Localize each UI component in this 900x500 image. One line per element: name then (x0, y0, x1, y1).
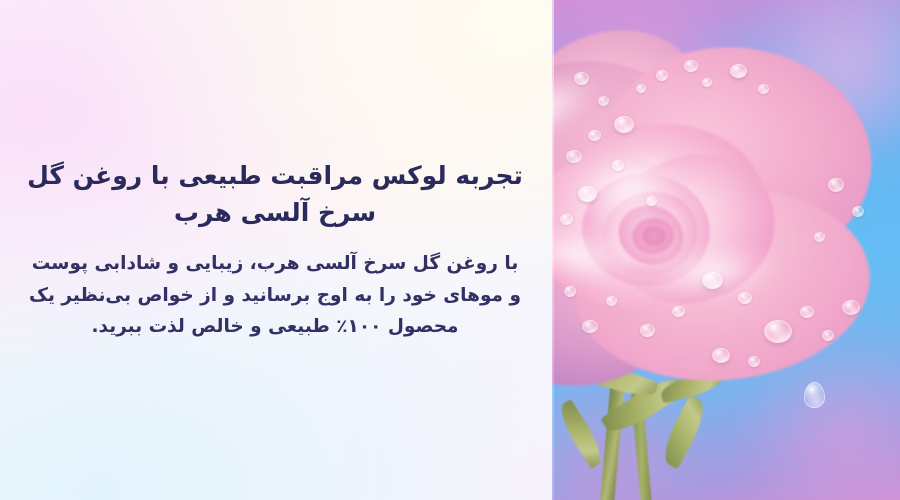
water-droplet (656, 70, 668, 81)
water-droplet (566, 150, 582, 163)
water-droplet (822, 330, 834, 341)
content-inner: تجربه لوکس مراقبت طبیعی با روغن گل سرخ آ… (20, 0, 530, 500)
water-droplet (606, 296, 617, 306)
body-copy: با روغن گل سرخ آلسی هرب، زیبایی و شادابی… (25, 248, 525, 343)
promo-banner: تجربه لوکس مراقبت طبیعی با روغن گل سرخ آ… (0, 0, 900, 500)
water-droplet (614, 116, 634, 133)
water-droplet (574, 72, 589, 85)
water-droplet (588, 130, 601, 141)
water-droplet (842, 300, 860, 315)
water-droplet (640, 324, 655, 337)
water-droplet (738, 292, 752, 304)
page-title: تجربه لوکس مراقبت طبیعی با روغن گل سرخ آ… (20, 157, 530, 232)
water-droplet (702, 272, 723, 289)
water-droplet (712, 348, 730, 363)
water-droplet (758, 84, 769, 94)
water-droplet (764, 320, 792, 343)
water-droplet (852, 206, 864, 217)
water-droplet (702, 78, 712, 87)
hero-image (552, 0, 900, 500)
rose-bloom (552, 28, 886, 400)
water-droplet (564, 286, 576, 297)
water-droplet (828, 178, 844, 192)
water-droplet (578, 186, 597, 202)
water-droplet (612, 160, 624, 171)
water-droplet (748, 356, 760, 367)
panel-divider (552, 0, 554, 500)
water-droplet (636, 84, 646, 93)
water-droplet (560, 214, 573, 225)
water-droplet (730, 64, 747, 78)
water-droplet (646, 196, 657, 206)
rose-petal-core (642, 226, 666, 246)
water-droplet (800, 306, 814, 318)
content-panel: تجربه لوکس مراقبت طبیعی با روغن گل سرخ آ… (0, 0, 552, 500)
water-droplet (684, 60, 698, 72)
hanging-water-droplet (804, 382, 825, 408)
water-droplet (814, 232, 825, 242)
water-droplet (582, 320, 598, 333)
water-droplet (672, 306, 685, 317)
water-droplet (598, 96, 609, 106)
